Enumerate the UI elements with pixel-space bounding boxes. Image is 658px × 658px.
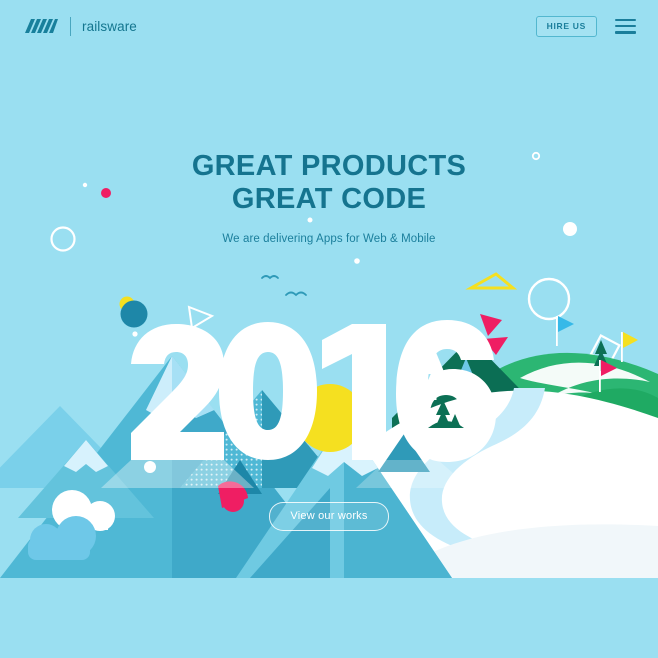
shape-dot-white-right — [563, 222, 577, 236]
page-root: railsware HIRE US GREAT PRODUCTS GREAT C… — [0, 0, 658, 658]
top-navigation-bar: railsware HIRE US — [0, 0, 658, 52]
brand-divider — [70, 17, 71, 36]
cta-container: View our works — [0, 502, 658, 531]
hamburger-line-2 — [615, 25, 636, 28]
shape-dot-white-tiny-left — [83, 183, 87, 187]
shape-dot-small-c — [354, 258, 360, 264]
shape-dot-small-d — [308, 218, 313, 223]
shape-dot-pink — [101, 188, 111, 198]
hire-us-button[interactable]: HIRE US — [536, 16, 597, 37]
brand-name: railsware — [82, 19, 137, 34]
nav-actions: HIRE US — [536, 16, 636, 37]
railsware-stripes-icon — [24, 18, 58, 34]
hamburger-line-1 — [615, 19, 636, 22]
hamburger-line-3 — [615, 31, 636, 34]
view-our-works-button[interactable]: View our works — [269, 502, 388, 531]
brand-logo[interactable]: railsware — [24, 17, 137, 36]
shape-dot-white-mid — [132, 331, 137, 336]
hamburger-menu-icon[interactable] — [615, 19, 636, 34]
shape-circle-teal — [121, 301, 148, 328]
